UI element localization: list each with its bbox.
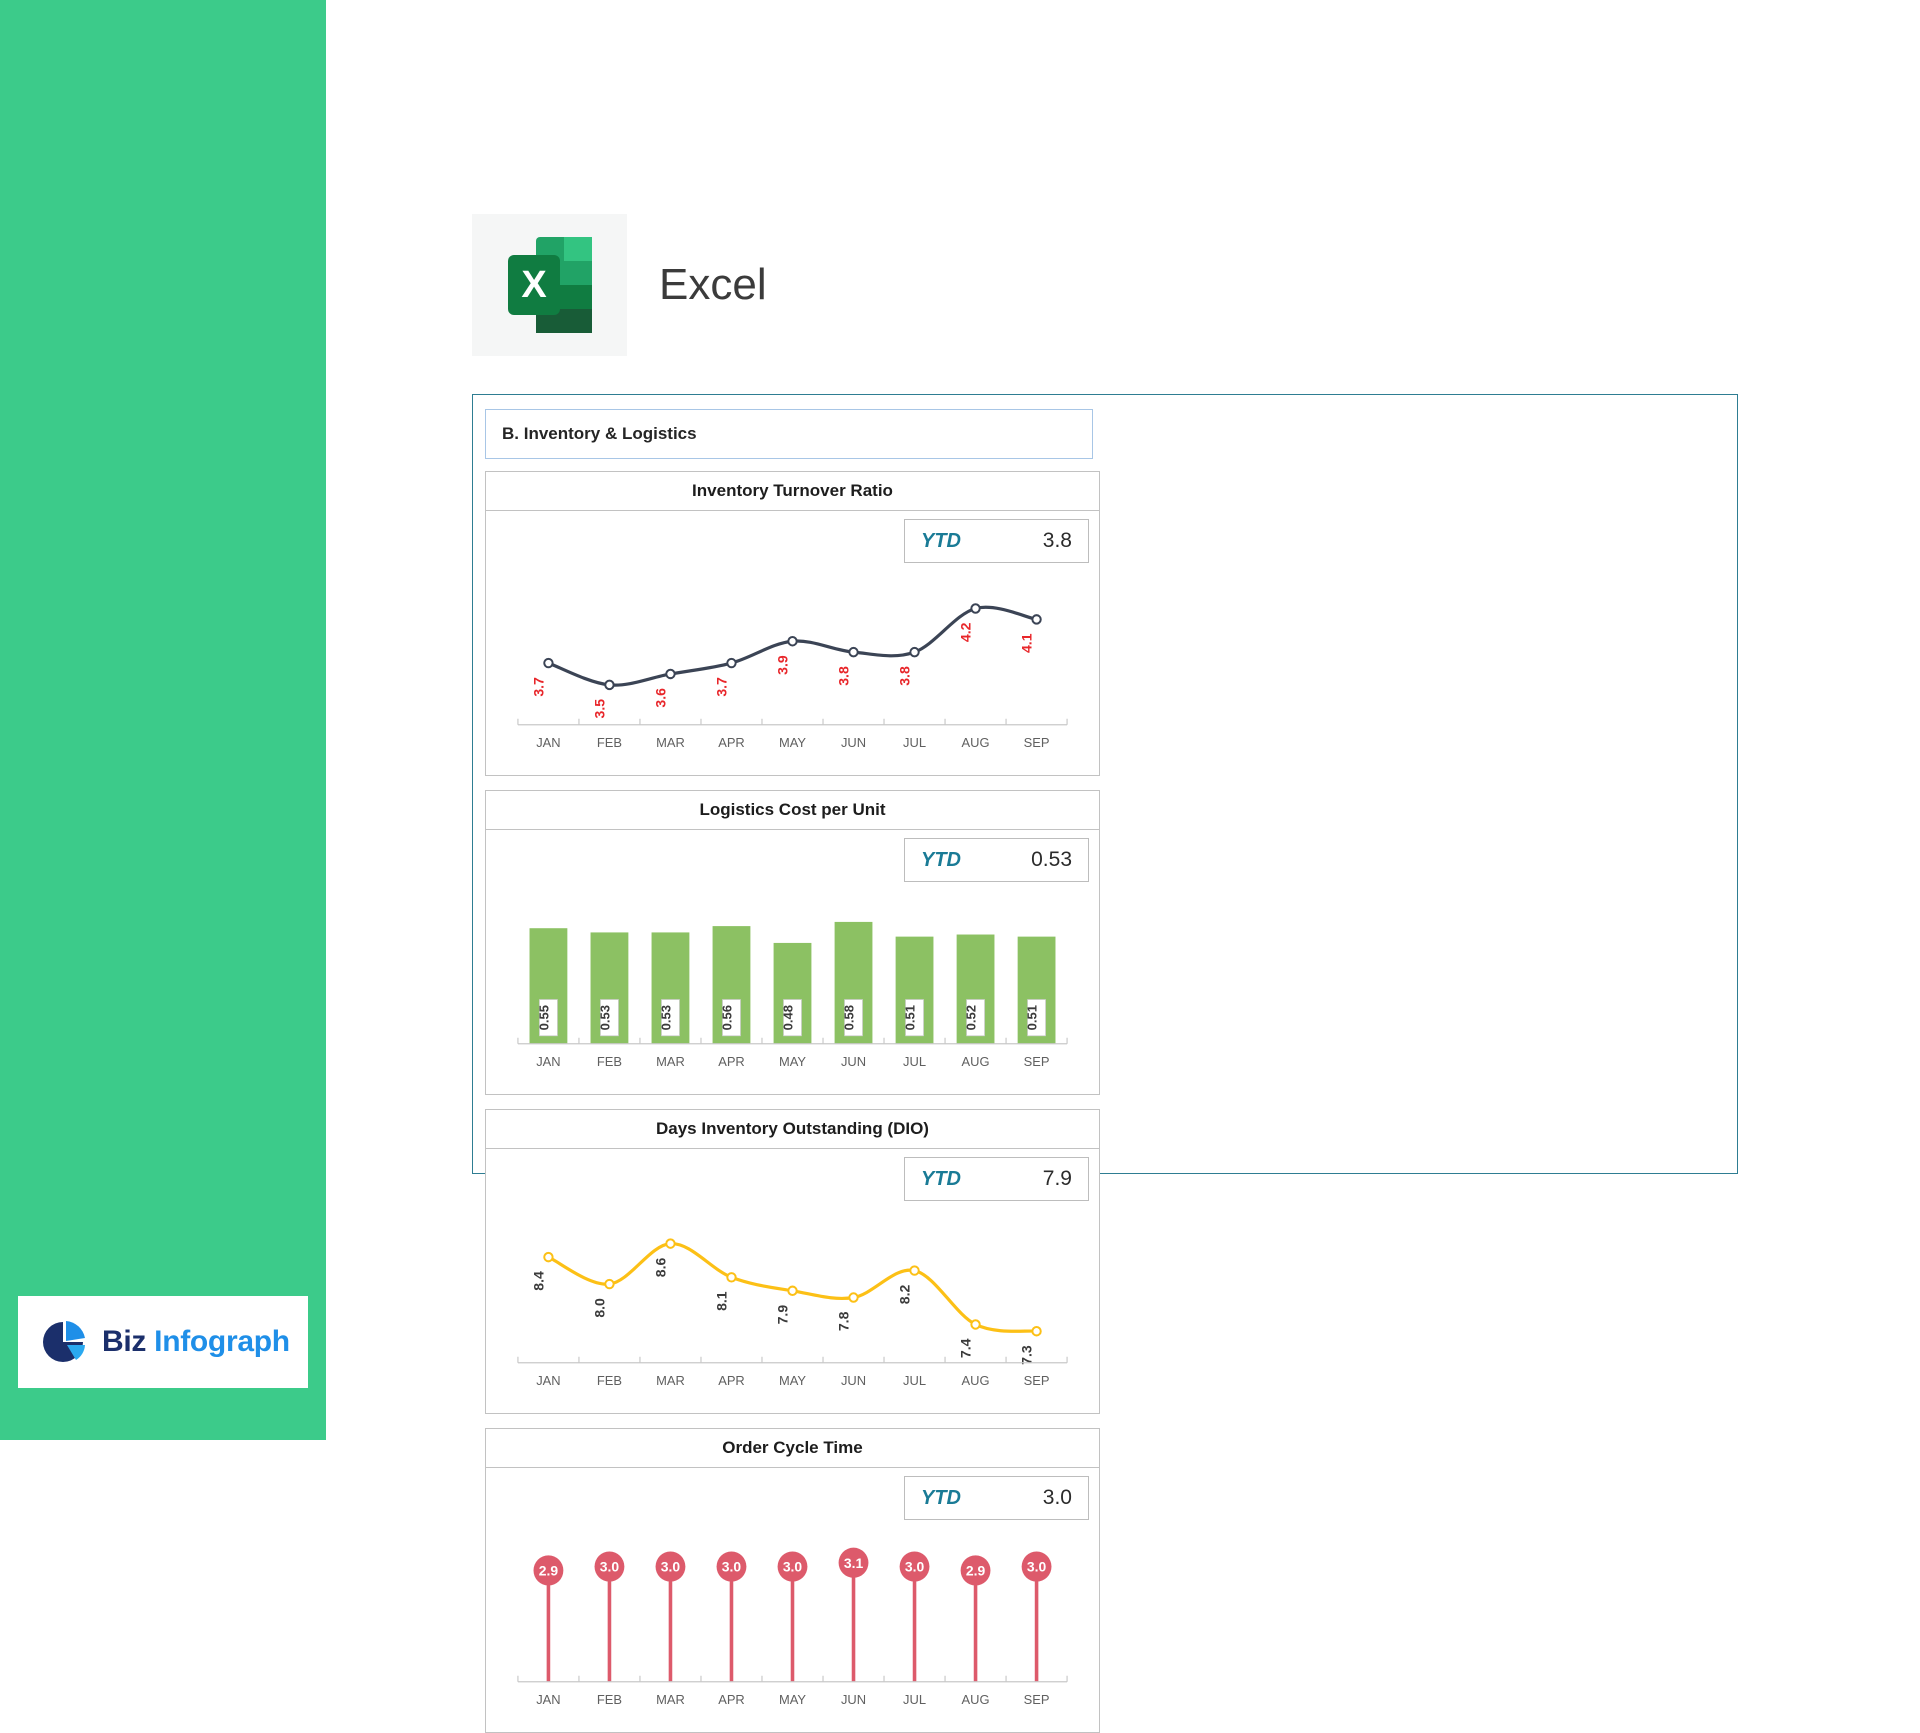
svg-text:JUL: JUL	[903, 1692, 926, 1707]
svg-text:0.53: 0.53	[598, 1005, 613, 1030]
ytd-value: 7.9	[1043, 1167, 1072, 1191]
svg-text:0.53: 0.53	[659, 1005, 674, 1030]
svg-text:3.8: 3.8	[897, 666, 913, 686]
svg-text:JUN: JUN	[841, 1692, 866, 1707]
excel-icon: X	[472, 214, 627, 356]
svg-text:3.0: 3.0	[661, 1559, 681, 1575]
svg-text:FEB: FEB	[597, 1054, 622, 1069]
panel-body: YTD 7.9 8.48.08.68.17.97.88.27.47.3JANFE…	[485, 1149, 1100, 1414]
panel-body: YTD 3.8 3.73.53.63.73.93.83.84.24.1JANFE…	[485, 511, 1100, 776]
svg-text:JAN: JAN	[536, 735, 560, 750]
svg-text:3.0: 3.0	[722, 1559, 742, 1575]
svg-text:MAY: MAY	[779, 1692, 806, 1707]
svg-text:JUL: JUL	[903, 1054, 926, 1069]
svg-text:2.9: 2.9	[966, 1562, 986, 1578]
svg-text:AUG: AUG	[962, 1054, 990, 1069]
svg-text:MAR: MAR	[656, 1373, 685, 1388]
chart-plot-area: 2.93.03.03.03.03.13.02.93.0JANFEBMARAPRM…	[504, 1523, 1081, 1724]
brand-logo: Biz Infograph	[18, 1296, 308, 1388]
svg-text:0.48: 0.48	[781, 1005, 796, 1030]
svg-text:0.52: 0.52	[964, 1005, 979, 1030]
panel-title: Logistics Cost per Unit	[485, 790, 1100, 830]
svg-text:FEB: FEB	[597, 1373, 622, 1388]
svg-text:8.2: 8.2	[897, 1284, 913, 1304]
panel-inventory-turnover-ratio: Inventory Turnover Ratio YTD 3.8 3.73.53…	[485, 471, 1100, 776]
ytd-label: YTD	[921, 1168, 961, 1191]
svg-text:MAY: MAY	[779, 735, 806, 750]
svg-text:SEP: SEP	[1024, 1054, 1050, 1069]
ytd-label: YTD	[921, 1487, 961, 1510]
svg-text:7.3: 7.3	[1019, 1345, 1035, 1365]
ytd-badge: YTD 7.9	[904, 1157, 1089, 1201]
svg-text:JUN: JUN	[841, 735, 866, 750]
svg-text:MAR: MAR	[656, 1692, 685, 1707]
svg-text:7.9: 7.9	[775, 1305, 791, 1325]
ytd-badge: YTD 0.53	[904, 838, 1089, 882]
panel-title: Days Inventory Outstanding (DIO)	[485, 1109, 1100, 1149]
svg-text:3.0: 3.0	[600, 1559, 620, 1575]
svg-text:8.6: 8.6	[653, 1257, 669, 1277]
svg-text:JUL: JUL	[903, 735, 926, 750]
svg-text:0.51: 0.51	[903, 1005, 918, 1030]
svg-text:JUN: JUN	[841, 1054, 866, 1069]
svg-text:APR: APR	[718, 1373, 745, 1388]
svg-text:8.1: 8.1	[714, 1291, 730, 1311]
svg-text:AUG: AUG	[962, 1373, 990, 1388]
chart-plot-area: 8.48.08.68.17.97.88.27.47.3JANFEBMARAPRM…	[504, 1204, 1081, 1405]
panel-title-label: Days Inventory Outstanding (DIO)	[656, 1119, 929, 1139]
svg-text:SEP: SEP	[1024, 1692, 1050, 1707]
svg-text:0.56: 0.56	[720, 1005, 735, 1030]
brand-logo-text: Biz Infograph	[102, 1325, 290, 1359]
panel-title: Order Cycle Time	[485, 1428, 1100, 1468]
svg-text:MAR: MAR	[656, 1054, 685, 1069]
svg-text:2.9: 2.9	[539, 1562, 559, 1578]
svg-text:3.8: 3.8	[836, 666, 852, 686]
svg-text:3.0: 3.0	[783, 1559, 803, 1575]
svg-text:3.5: 3.5	[592, 699, 608, 719]
svg-text:0.55: 0.55	[536, 1005, 551, 1030]
ytd-label: YTD	[921, 530, 961, 553]
svg-text:7.4: 7.4	[958, 1338, 974, 1358]
svg-text:MAY: MAY	[779, 1054, 806, 1069]
svg-text:3.9: 3.9	[775, 655, 791, 675]
svg-text:AUG: AUG	[962, 1692, 990, 1707]
svg-text:0.58: 0.58	[842, 1005, 857, 1030]
ytd-value: 3.8	[1043, 529, 1072, 553]
ytd-badge: YTD 3.8	[904, 519, 1089, 563]
panel-body: YTD 3.0 2.93.03.03.03.03.13.02.93.0JANFE…	[485, 1468, 1100, 1733]
ytd-badge: YTD 3.0	[904, 1476, 1089, 1520]
chart-plot-area: 0.550.530.530.560.480.580.510.520.51JANF…	[504, 885, 1081, 1086]
svg-text:JAN: JAN	[536, 1692, 560, 1707]
svg-text:8.4: 8.4	[531, 1271, 547, 1291]
brand-name-second: Infograph	[154, 1325, 290, 1358]
chart-plot-area: 3.73.53.63.73.93.83.84.24.1JANFEBMARAPRM…	[504, 566, 1081, 767]
svg-text:X: X	[521, 264, 547, 306]
svg-text:4.1: 4.1	[1019, 633, 1035, 653]
svg-text:JAN: JAN	[536, 1373, 560, 1388]
section-header: B. Inventory & Logistics	[485, 409, 1093, 459]
svg-text:APR: APR	[718, 1054, 745, 1069]
svg-text:AUG: AUG	[962, 735, 990, 750]
panel-title: Inventory Turnover Ratio	[485, 471, 1100, 511]
svg-text:APR: APR	[718, 735, 745, 750]
section-header-label: B. Inventory & Logistics	[502, 424, 697, 444]
panel-days-inventory-outstanding: Days Inventory Outstanding (DIO) YTD 7.9…	[485, 1109, 1100, 1414]
svg-text:FEB: FEB	[597, 1692, 622, 1707]
app-header: X Excel	[472, 214, 767, 356]
svg-text:JUN: JUN	[841, 1373, 866, 1388]
svg-text:3.6: 3.6	[653, 688, 669, 708]
panel-title-label: Order Cycle Time	[722, 1438, 862, 1458]
svg-text:3.0: 3.0	[905, 1559, 925, 1575]
ytd-value: 0.53	[1031, 848, 1072, 872]
svg-text:3.0: 3.0	[1027, 1559, 1047, 1575]
svg-text:SEP: SEP	[1024, 735, 1050, 750]
svg-text:APR: APR	[718, 1692, 745, 1707]
svg-text:0.51: 0.51	[1025, 1005, 1040, 1030]
brand-name-first: Biz	[102, 1325, 146, 1358]
panel-title-label: Logistics Cost per Unit	[699, 800, 885, 820]
svg-text:4.2: 4.2	[958, 622, 974, 642]
svg-text:3.7: 3.7	[531, 677, 547, 697]
chart-grid: Inventory Turnover Ratio YTD 3.8 3.73.53…	[485, 471, 1725, 1733]
svg-text:FEB: FEB	[597, 735, 622, 750]
svg-text:3.7: 3.7	[714, 677, 730, 697]
ytd-value: 3.0	[1043, 1486, 1072, 1510]
svg-text:3.1: 3.1	[844, 1555, 864, 1571]
svg-text:SEP: SEP	[1024, 1373, 1050, 1388]
svg-text:MAR: MAR	[656, 735, 685, 750]
pie-chart-icon	[40, 1318, 88, 1366]
dashboard-container: B. Inventory & Logistics Inventory Turno…	[472, 394, 1738, 1174]
svg-text:8.0: 8.0	[592, 1298, 608, 1318]
svg-text:7.8: 7.8	[836, 1311, 852, 1331]
panel-logistics-cost-per-unit: Logistics Cost per Unit YTD 0.53 0.550.5…	[485, 790, 1100, 1095]
panel-order-cycle-time: Order Cycle Time YTD 3.0 2.93.03.03.03.0…	[485, 1428, 1100, 1733]
panel-title-label: Inventory Turnover Ratio	[692, 481, 893, 501]
svg-text:MAY: MAY	[779, 1373, 806, 1388]
svg-text:JAN: JAN	[536, 1054, 560, 1069]
ytd-label: YTD	[921, 849, 961, 872]
app-title: Excel	[659, 260, 767, 310]
panel-body: YTD 0.53 0.550.530.530.560.480.580.510.5…	[485, 830, 1100, 1095]
svg-text:JUL: JUL	[903, 1373, 926, 1388]
left-color-rail	[0, 0, 326, 1440]
